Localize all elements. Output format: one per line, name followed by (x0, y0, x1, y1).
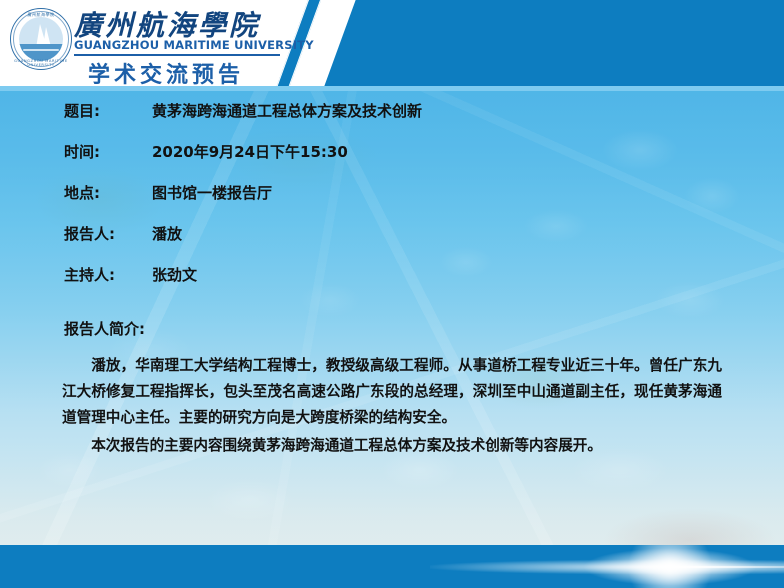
info-row-speaker: 报告人: 潘放 (0, 223, 784, 264)
value-host: 张劲文 (152, 264, 197, 285)
info-row-location: 地点: 图书馆一楼报告厅 (0, 182, 784, 223)
header-banner: 廣州航海學院 GUANGZHOU MARITIME UNIVERSITY 廣州航… (0, 0, 784, 86)
label-speaker: 报告人: (64, 223, 146, 244)
header-underline-strip (0, 86, 784, 91)
info-row-title: 题目: 黄茅海跨海通道工程总体方案及技术创新 (0, 100, 784, 141)
value-title: 黄茅海跨海通道工程总体方案及技术创新 (152, 100, 422, 121)
label-location: 地点: (64, 182, 146, 203)
academic-announcement-poster: 廣州航海學院 GUANGZHOU MARITIME UNIVERSITY 廣州航… (0, 0, 784, 588)
university-logo: 廣州航海學院 GUANGZHOU MARITIME UNIVERSITY (10, 8, 72, 70)
poster-subtitle: 学术交流预告 (88, 57, 244, 86)
value-time: 2020年9月24日下午15:30 (152, 141, 348, 162)
sailboat-icon (19, 17, 63, 61)
poster-content: 题目: 黄茅海跨海通道工程总体方案及技术创新 时间: 2020年9月24日下午1… (0, 100, 784, 459)
value-speaker: 潘放 (152, 223, 182, 244)
info-row-time: 时间: 2020年9月24日下午15:30 (0, 141, 784, 182)
header-divider (74, 54, 280, 56)
value-location: 图书馆一楼报告厅 (152, 182, 272, 203)
label-speaker-bio: 报告人简介: (64, 318, 784, 339)
logo-ring-text-cn: 廣州航海學院 (10, 12, 72, 18)
speaker-bio-paragraph: 潘放，华南理工大学结构工程博士，教授级高级工程师。从事道桥工程专业近三十年。曾任… (62, 353, 722, 431)
label-host: 主持人: (64, 264, 146, 285)
talk-summary-paragraph: 本次报告的主要内容围绕黄茅海跨海通道工程总体方案及技术创新等内容展开。 (62, 433, 722, 459)
university-name-en: GUANGZHOU MARITIME UNIVERSITY (74, 38, 314, 52)
logo-ring-text-en: GUANGZHOU MARITIME UNIVERSITY (10, 59, 72, 67)
label-time: 时间: (64, 141, 146, 162)
footer-band (0, 545, 784, 588)
light-ray (670, 566, 784, 568)
info-row-host: 主持人: 张劲文 (0, 264, 784, 305)
label-title: 题目: (64, 100, 146, 121)
